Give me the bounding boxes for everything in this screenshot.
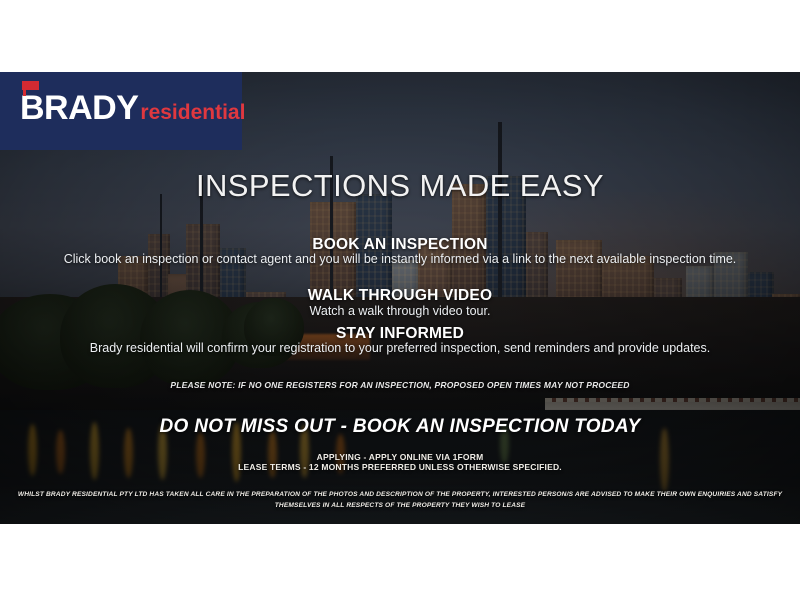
logo-secondary-text: residential xyxy=(140,101,245,125)
image-canvas: BRADYresidential INSPECTIONS MADE EASY B… xyxy=(0,0,800,600)
section-body-book-an-inspection: Click book an inspection or contact agen… xyxy=(0,252,800,267)
call-to-action-text: DO NOT MISS OUT - BOOK AN INSPECTION TOD… xyxy=(0,416,800,438)
brand-logo-panel: BRADYresidential xyxy=(0,72,242,150)
hero-title: INSPECTIONS MADE EASY xyxy=(0,168,800,204)
legal-disclaimer-text: WHILST BRADY RESIDENTIAL PTY LTD HAS TAK… xyxy=(0,489,800,511)
section-body-stay-informed: Brady residential will confirm your regi… xyxy=(0,341,800,356)
please-note-text: PLEASE NOTE: IF NO ONE REGISTERS FOR AN … xyxy=(0,380,800,390)
marketing-banner-image: BRADYresidential INSPECTIONS MADE EASY B… xyxy=(0,72,800,524)
section-heading-walk-through-video: WALK THROUGH VIDEO xyxy=(0,287,800,305)
flag-icon xyxy=(22,81,39,90)
section-body-walk-through-video: Watch a walk through video tour. xyxy=(0,304,800,319)
brady-residential-logo: BRADYresidential xyxy=(20,89,245,128)
lease-terms-text: LEASE TERMS - 12 MONTHS PREFERRED UNLESS… xyxy=(0,462,800,473)
logo-primary-text: BRADY xyxy=(20,89,138,128)
